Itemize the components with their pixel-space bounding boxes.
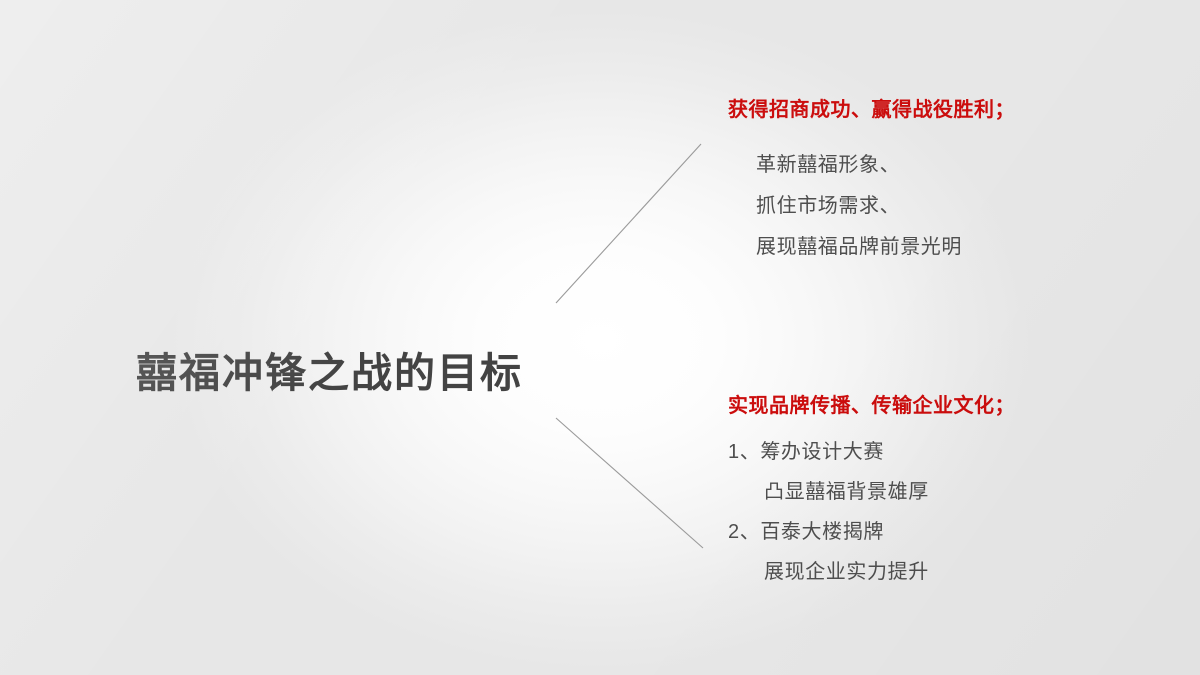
- list-item: 革新囍福形象、: [728, 145, 1168, 186]
- list-item: 凸显囍福背景雄厚: [728, 472, 1168, 512]
- branch-1-heading: 获得招商成功、赢得战役胜利；: [728, 96, 1168, 124]
- list-item: 抓住市场需求、: [728, 186, 1168, 227]
- list-item: 展现企业实力提升: [728, 552, 1168, 592]
- page-title: 囍福冲锋之战的目标: [136, 349, 523, 398]
- list-item: 1、筹办设计大赛: [728, 432, 1168, 472]
- branch-goal-2: 实现品牌传播、传输企业文化； 1、筹办设计大赛 凸显囍福背景雄厚 2、百泰大楼揭…: [728, 392, 1168, 592]
- branch-goal-1: 获得招商成功、赢得战役胜利； 革新囍福形象、 抓住市场需求、 展现囍福品牌前景光…: [728, 96, 1168, 268]
- connector-line-top: [556, 144, 701, 303]
- connector-line-bottom: [556, 418, 703, 548]
- list-item: 2、百泰大楼揭牌: [728, 512, 1168, 552]
- slide-canvas: 囍福冲锋之战的目标 获得招商成功、赢得战役胜利； 革新囍福形象、 抓住市场需求、…: [0, 0, 1200, 675]
- branch-1-list: 革新囍福形象、 抓住市场需求、 展现囍福品牌前景光明: [728, 145, 1168, 268]
- branch-2-heading: 实现品牌传播、传输企业文化；: [728, 392, 1168, 420]
- branch-2-list: 1、筹办设计大赛 凸显囍福背景雄厚 2、百泰大楼揭牌 展现企业实力提升: [728, 432, 1168, 592]
- list-item: 展现囍福品牌前景光明: [728, 227, 1168, 268]
